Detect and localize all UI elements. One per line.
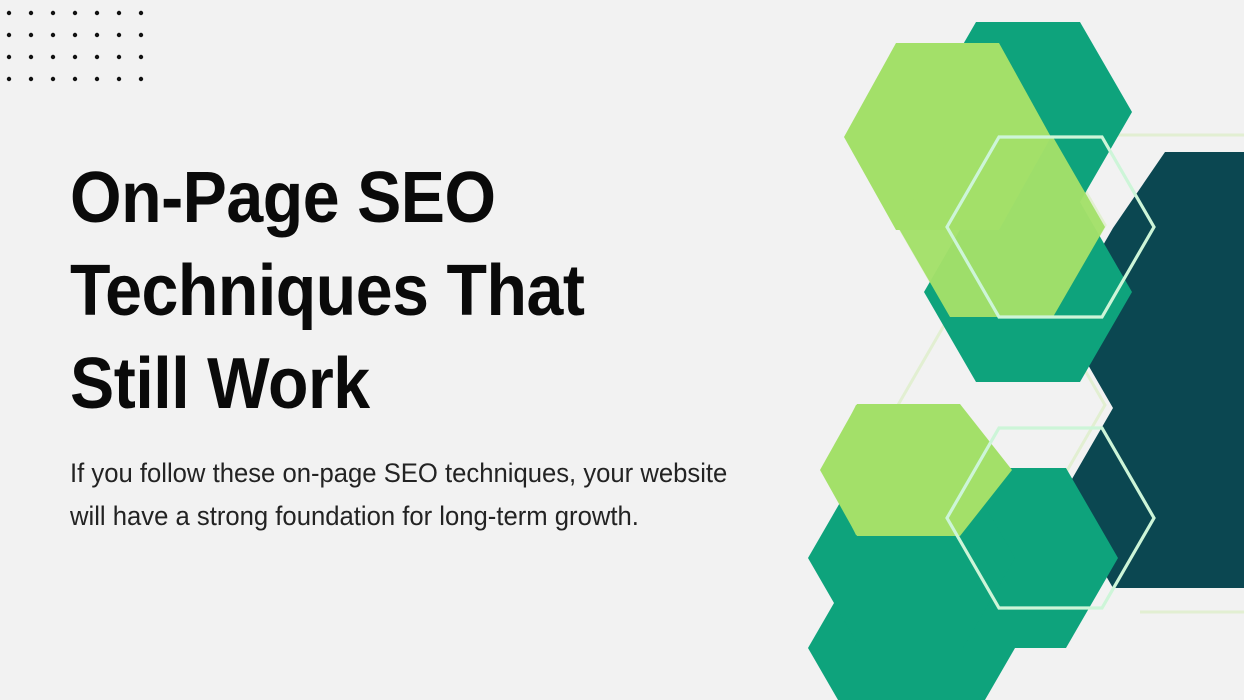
text-column: On-Page SEO Techniques That Still Work I… [70, 0, 790, 700]
hexagon-cluster [800, 0, 1244, 700]
page-subtitle: If you follow these on-page SEO techniqu… [70, 452, 735, 538]
slide-canvas: On-Page SEO Techniques That Still Work I… [0, 0, 1244, 700]
page-title: On-Page SEO Techniques That Still Work [70, 152, 714, 431]
